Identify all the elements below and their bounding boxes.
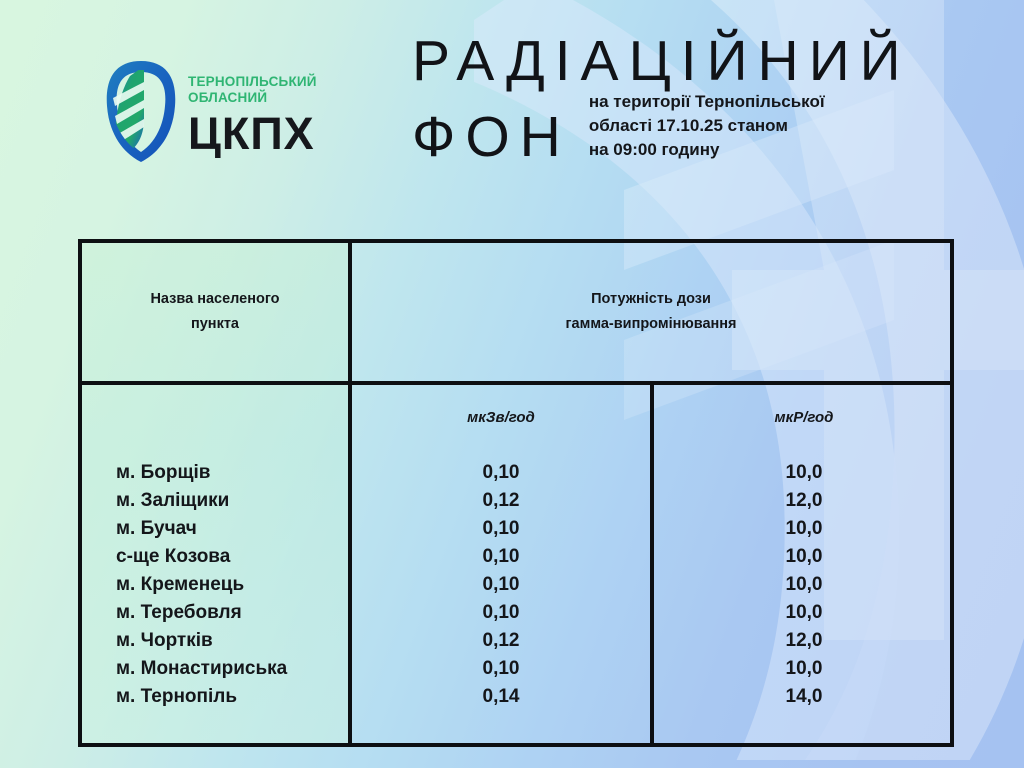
ur-value-cell: 10,0 — [654, 599, 954, 627]
settlement-name-cell: м. Борщів — [116, 459, 348, 487]
usv-value-cell: 0,10 — [352, 599, 650, 627]
ur-value-cell: 10,0 — [654, 571, 954, 599]
usv-value-cell: 0,14 — [352, 683, 650, 711]
table-header-name-column: Назва населеного пункта — [82, 243, 348, 381]
organization-logo: ТЕРНОПІЛЬСЬКИЙ ОБЛАСНИЙ ЦКПХ — [104, 58, 317, 164]
header-name-line-2: пункта — [150, 312, 279, 337]
unit-header-microsievert: мкЗв/год — [352, 409, 650, 426]
usv-value-cell: 0,10 — [352, 543, 650, 571]
ur-value-cell: 10,0 — [654, 515, 954, 543]
logo-line-2: ОБЛАСНИЙ — [188, 90, 317, 106]
ur-value-list: 10,012,010,010,010,010,012,010,014,0 — [654, 459, 954, 711]
header-dose-line-2: гамма-випромінювання — [565, 312, 736, 337]
usv-value-list: 0,100,120,100,100,100,100,120,100,14 — [352, 459, 650, 711]
subtitle-block: на території Тернопільської області 17.1… — [589, 90, 825, 166]
shield-leaf-logo-icon — [104, 58, 178, 164]
ur-value-cell: 10,0 — [654, 543, 954, 571]
usv-value-cell: 0,10 — [352, 515, 650, 543]
ur-value-cell: 12,0 — [654, 487, 954, 515]
logo-abbreviation: ЦКПХ — [188, 111, 317, 156]
subtitle-line-3: на 09:00 годину — [589, 138, 825, 162]
usv-value-cell: 0,12 — [352, 627, 650, 655]
table-header-dose-column: Потужність дози гамма-випромінювання — [352, 243, 950, 381]
subtitle-line-2: області 17.10.25 станом — [589, 114, 825, 138]
usv-value-cell: 0,12 — [352, 487, 650, 515]
settlement-name-cell: м. Бучач — [116, 515, 348, 543]
unit-header-microroentgen: мкР/год — [654, 409, 954, 426]
settlement-name-cell: м. Кременець — [116, 571, 348, 599]
settlement-name-cell: м. Теребовля — [116, 599, 348, 627]
title-line-1: РАДІАЦІЙНИЙ — [412, 34, 992, 90]
settlement-name-cell: м. Тернопіль — [116, 683, 348, 711]
header-dose-line-1: Потужність дози — [565, 287, 736, 312]
page-title: РАДІАЦІЙНИЙ ФОН на території Тернопільсь… — [412, 34, 992, 166]
radiation-data-table: Назва населеного пункта Потужність дози … — [78, 239, 954, 747]
settlement-name-list: м. Борщівм. Заліщиким. Бучачс-ще Козовам… — [82, 459, 348, 711]
ur-value-cell: 10,0 — [654, 655, 954, 683]
title-line-2: ФОН — [412, 110, 571, 166]
subtitle-line-1: на території Тернопільської — [589, 90, 825, 114]
ur-value-column: 10,012,010,010,010,010,012,010,014,0 — [654, 459, 954, 711]
logo-line-1: ТЕРНОПІЛЬСЬКИЙ — [188, 74, 317, 90]
settlement-name-cell: м. Монастириська — [116, 655, 348, 683]
settlement-name-cell: с-ще Козова — [116, 543, 348, 571]
header-name-line-1: Назва населеного — [150, 287, 279, 312]
ur-value-cell: 10,0 — [654, 459, 954, 487]
ur-value-cell: 12,0 — [654, 627, 954, 655]
settlement-name-cell: м. Заліщики — [116, 487, 348, 515]
usv-value-cell: 0,10 — [352, 571, 650, 599]
header-divider-horizontal — [82, 381, 950, 385]
settlement-name-cell: м. Чортків — [116, 627, 348, 655]
usv-value-column: 0,100,120,100,100,100,100,120,100,14 — [352, 459, 650, 711]
settlement-name-column: м. Борщівм. Заліщиким. Бучачс-ще Козовам… — [82, 459, 348, 711]
usv-value-cell: 0,10 — [352, 655, 650, 683]
usv-value-cell: 0,10 — [352, 459, 650, 487]
ur-value-cell: 14,0 — [654, 683, 954, 711]
